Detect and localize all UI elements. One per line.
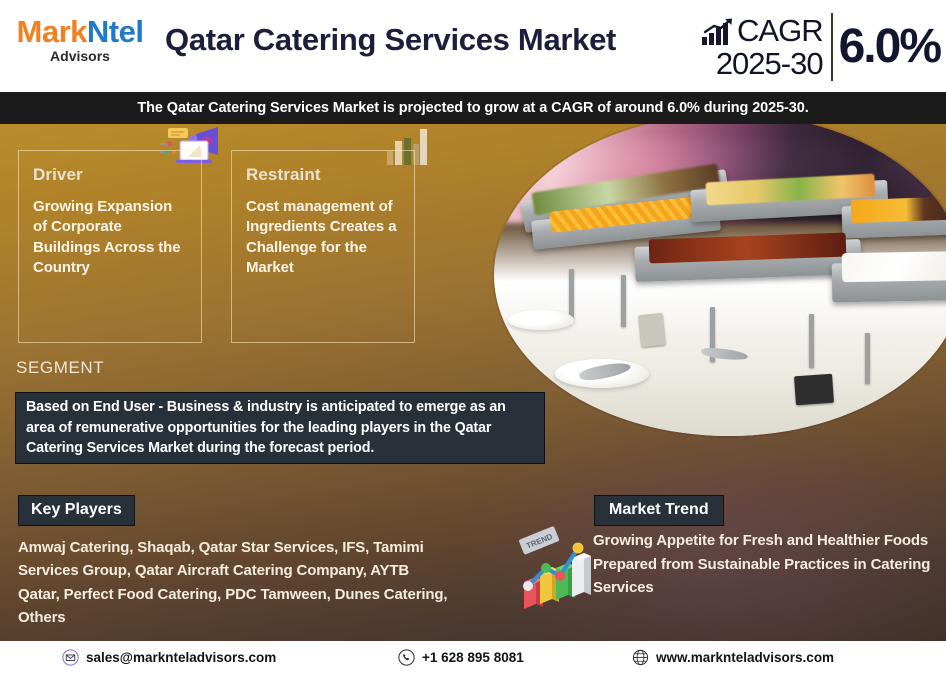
envelope-icon [62, 649, 79, 666]
brand-logo[interactable]: MarkNtel Advisors [10, 16, 150, 63]
logo-word-ntel: Ntel [87, 14, 144, 49]
segment-text: Based on End User - Business & industry … [26, 397, 534, 460]
tray-leg [809, 314, 814, 369]
cagr-label: CAGR [737, 15, 823, 46]
logo-subtitle: Advisors [10, 49, 150, 63]
logo-word-mark: Mark [17, 14, 87, 49]
footer-phone[interactable]: +1 628 895 8081 [398, 649, 524, 666]
plate [508, 310, 574, 329]
body-area: Driver Growing Expansion of Corporate Bu… [0, 124, 946, 641]
bar-chart-arrow-up-icon [701, 18, 735, 46]
tray-leg [621, 275, 626, 327]
footer-email-text: sales@marknteladvisors.com [86, 650, 276, 665]
restraint-card: Restraint Cost management of Ingredients… [231, 150, 415, 343]
tray-food [842, 251, 946, 282]
driver-card: Driver Growing Expansion of Corporate Bu… [18, 150, 202, 343]
infographic-page: MarkNtel Advisors Qatar Catering Service… [0, 0, 946, 674]
globe-icon [632, 649, 649, 666]
cagr-value: 6.0% [833, 23, 940, 71]
subtitle-bar: The Qatar Catering Services Market is pr… [0, 92, 946, 124]
market-trend-badge: Market Trend [594, 495, 724, 526]
footer-email[interactable]: sales@marknteladvisors.com [62, 649, 276, 666]
tray-leg [569, 269, 574, 321]
header: MarkNtel Advisors Qatar Catering Service… [0, 0, 946, 92]
footer-phone-text: +1 628 895 8081 [422, 650, 524, 665]
segment-heading: SEGMENT [16, 358, 104, 378]
cagr-block: CAGR 2025-30 6.0% [701, 8, 940, 86]
footer: sales@marknteladvisors.com +1 628 895 80… [0, 641, 946, 674]
tray-leg [865, 333, 870, 385]
cagr-left: CAGR 2025-30 [701, 15, 831, 79]
logo-wordmark: MarkNtel [10, 16, 150, 47]
cagr-label-row: CAGR [701, 15, 823, 46]
driver-text: Growing Expansion of Corporate Buildings… [33, 197, 187, 278]
catering-photo [494, 124, 946, 436]
market-trend-badge-label: Market Trend [609, 501, 709, 518]
segment-card: Based on End User - Business & industry … [15, 392, 545, 464]
cagr-years: 2025-30 [701, 48, 823, 79]
driver-label: Driver [33, 165, 187, 185]
phone-icon [398, 649, 415, 666]
footer-website-text: www.marknteladvisors.com [656, 650, 834, 665]
footer-website[interactable]: www.marknteladvisors.com [632, 649, 834, 666]
key-players-badge: Key Players [18, 495, 135, 526]
subtitle-text: The Qatar Catering Services Market is pr… [137, 100, 808, 116]
menu-chalkboard [794, 374, 834, 406]
key-players-badge-label: Key Players [31, 501, 122, 518]
menu-card [638, 312, 665, 346]
market-trend-text: Growing Appetite for Fresh and Healthier… [593, 529, 943, 600]
restraint-label: Restraint [246, 165, 400, 185]
tray-food [851, 196, 946, 223]
page-title: Qatar Catering Services Market [165, 22, 685, 58]
restraint-text: Cost management of Ingredients Creates a… [246, 197, 400, 278]
key-players-text: Amwaj Catering, Shaqab, Qatar Star Servi… [18, 536, 448, 629]
